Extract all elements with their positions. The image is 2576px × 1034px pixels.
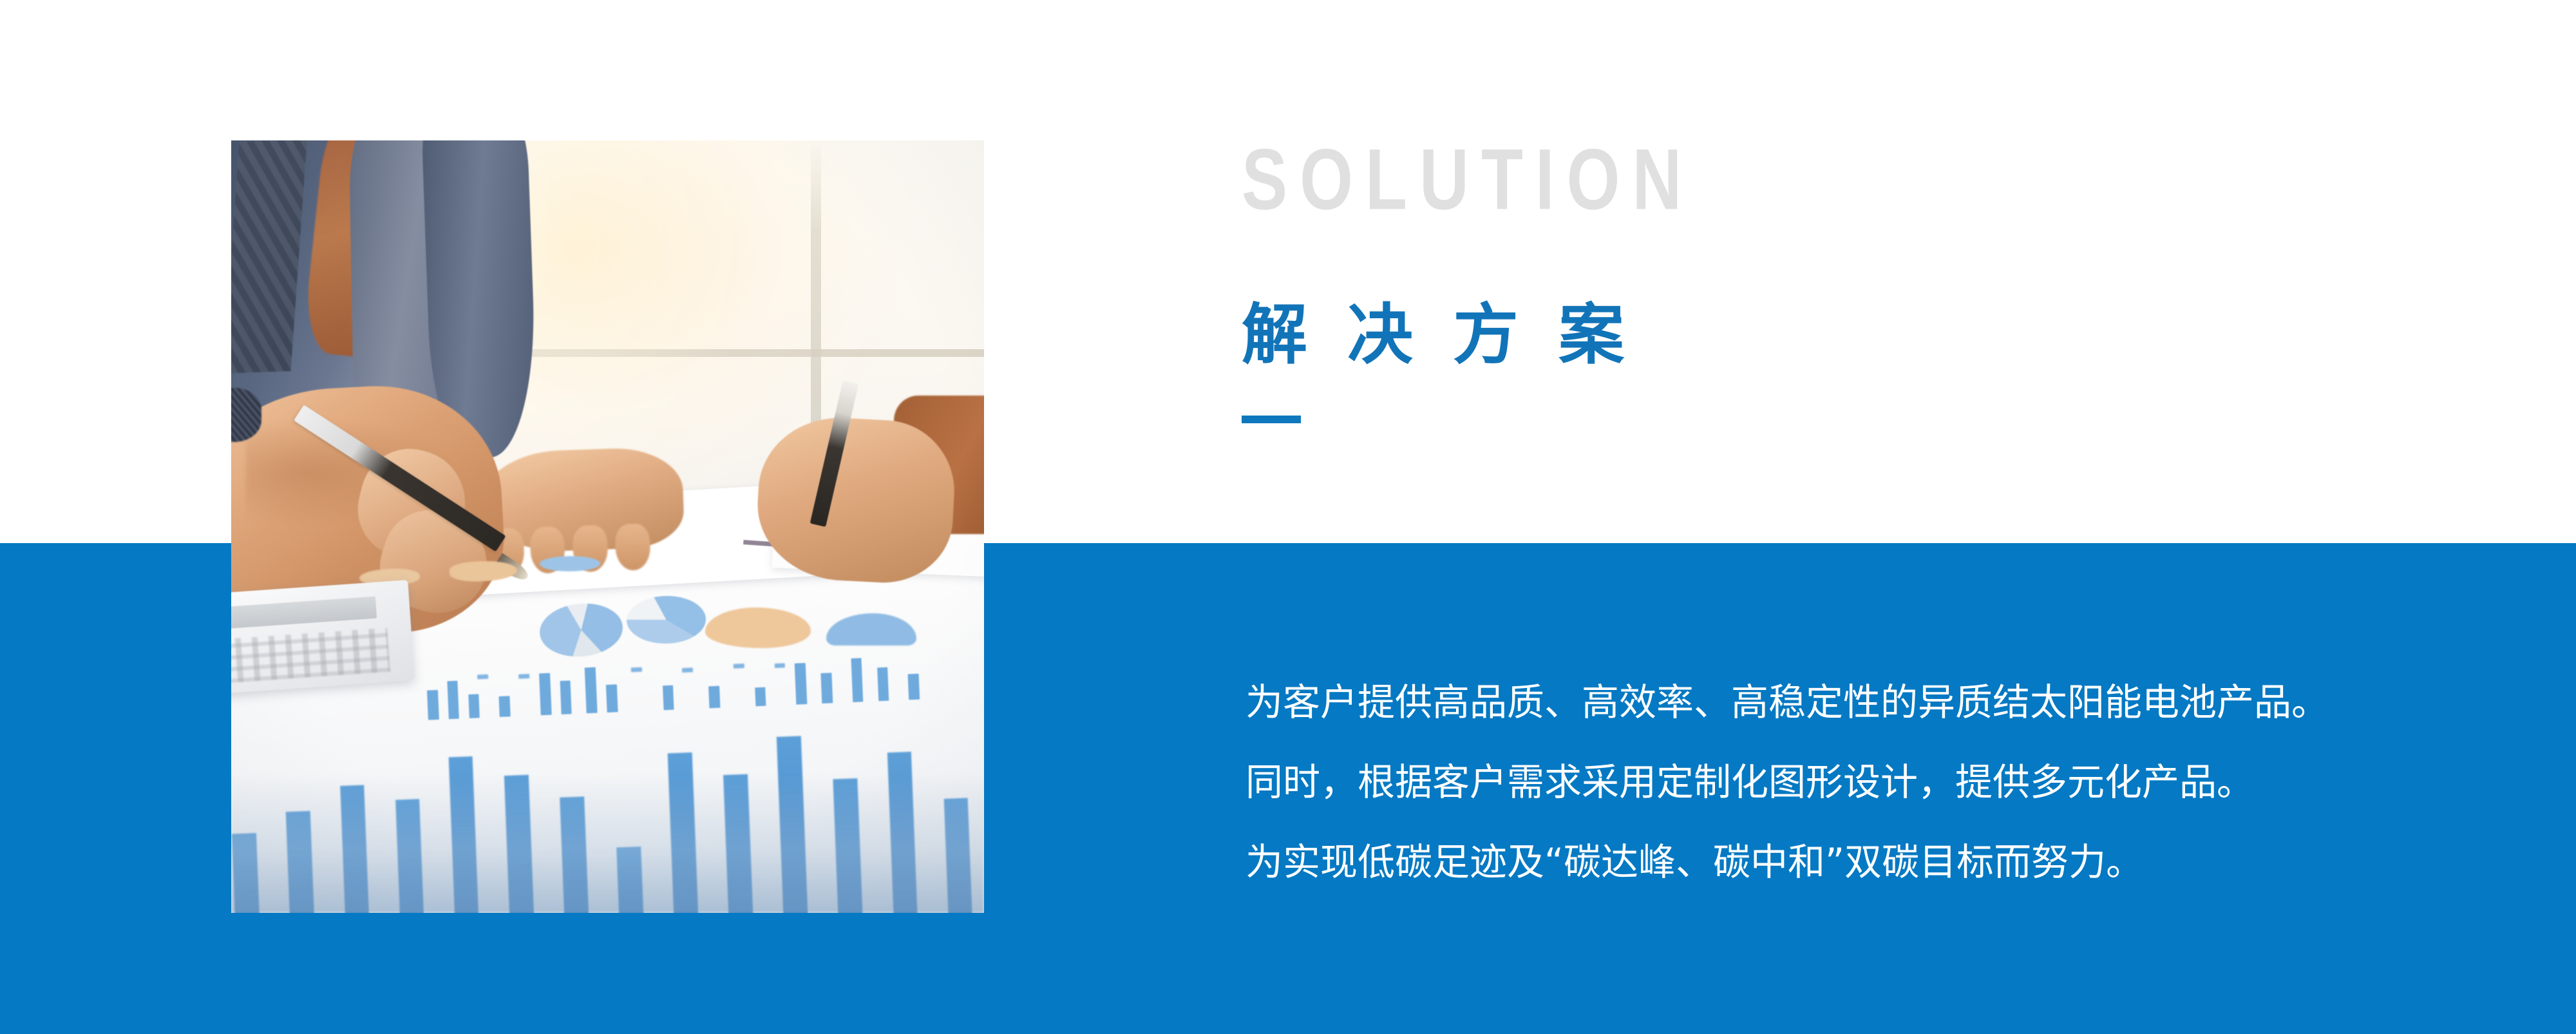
body-line: 同时，根据客户需求采用定制化图形设计，提供多元化产品。	[1245, 742, 2469, 822]
section-eyebrow: SOLUTION	[1242, 137, 1694, 223]
body-copy: 为客户提供高品质、高效率、高稳定性的异质结太阳能电池产品。 同时，根据客户需求采…	[1245, 662, 2469, 902]
photo-vignette	[231, 140, 984, 913]
title-underline-rule	[1242, 416, 1301, 423]
body-line: 为实现低碳足迹及“碳达峰、碳中和”双碳目标而努力。	[1245, 822, 2469, 902]
business-meeting-photo	[231, 140, 984, 913]
solution-section-page: SOLUTION 解决方案 为客户提供高品质、高效率、高稳定性的异质结太阳能电池…	[0, 0, 2576, 1034]
photo-inner	[231, 140, 984, 913]
page-title: 解决方案	[1242, 303, 1664, 369]
body-line: 为客户提供高品质、高效率、高稳定性的异质结太阳能电池产品。	[1245, 662, 2469, 742]
